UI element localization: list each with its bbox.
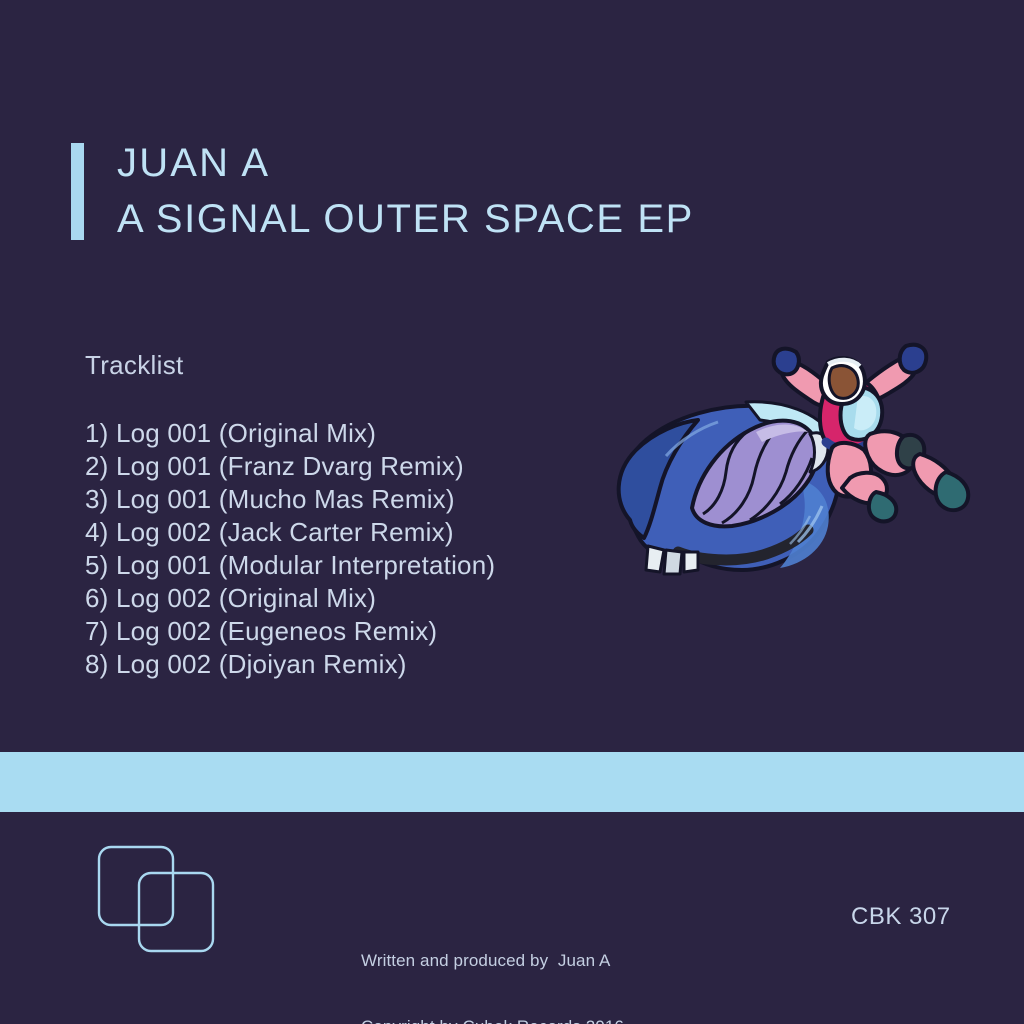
track-item: 8) Log 002 (Djoiyan Remix): [85, 648, 495, 681]
track-item: 2) Log 001 (Franz Dvarg Remix): [85, 450, 495, 483]
divider-band: [0, 752, 1024, 812]
credits: Written and produced by Juan A Copyright…: [361, 906, 624, 1024]
artist-name: JUAN A: [117, 135, 694, 191]
track-item: 3) Log 001 (Mucho Mas Remix): [85, 483, 495, 516]
logo-square-front: [139, 873, 213, 951]
track-item: 6) Log 002 (Original Mix): [85, 582, 495, 615]
cubek-records-logo: [97, 845, 215, 955]
title-block: JUAN A A SIGNAL OUTER SPACE EP: [117, 135, 694, 247]
space-helmet-creature: [619, 402, 840, 574]
catalog-number: CBK 307: [851, 903, 951, 931]
album-title: A SIGNAL OUTER SPACE EP: [117, 191, 694, 247]
logo-square-back: [99, 847, 173, 925]
tracklist: Tracklist 1) Log 001 (Original Mix) 2) L…: [85, 350, 495, 681]
tracklist-heading: Tracklist: [85, 350, 495, 381]
credits-line-1: Written and produced by Juan A: [361, 950, 624, 972]
track-item: 4) Log 002 (Jack Carter Remix): [85, 516, 495, 549]
track-item: 5) Log 001 (Modular Interpretation): [85, 549, 495, 582]
track-item: 1) Log 001 (Original Mix): [85, 417, 495, 450]
title-accent-bar: [71, 143, 84, 240]
album-cover: JUAN A A SIGNAL OUTER SPACE EP Tracklist…: [0, 0, 1024, 1024]
track-item: 7) Log 002 (Eugeneos Remix): [85, 615, 495, 648]
credits-line-2: Copyright by Cubek Records 2016: [361, 1016, 624, 1024]
illustration: [570, 330, 1000, 630]
